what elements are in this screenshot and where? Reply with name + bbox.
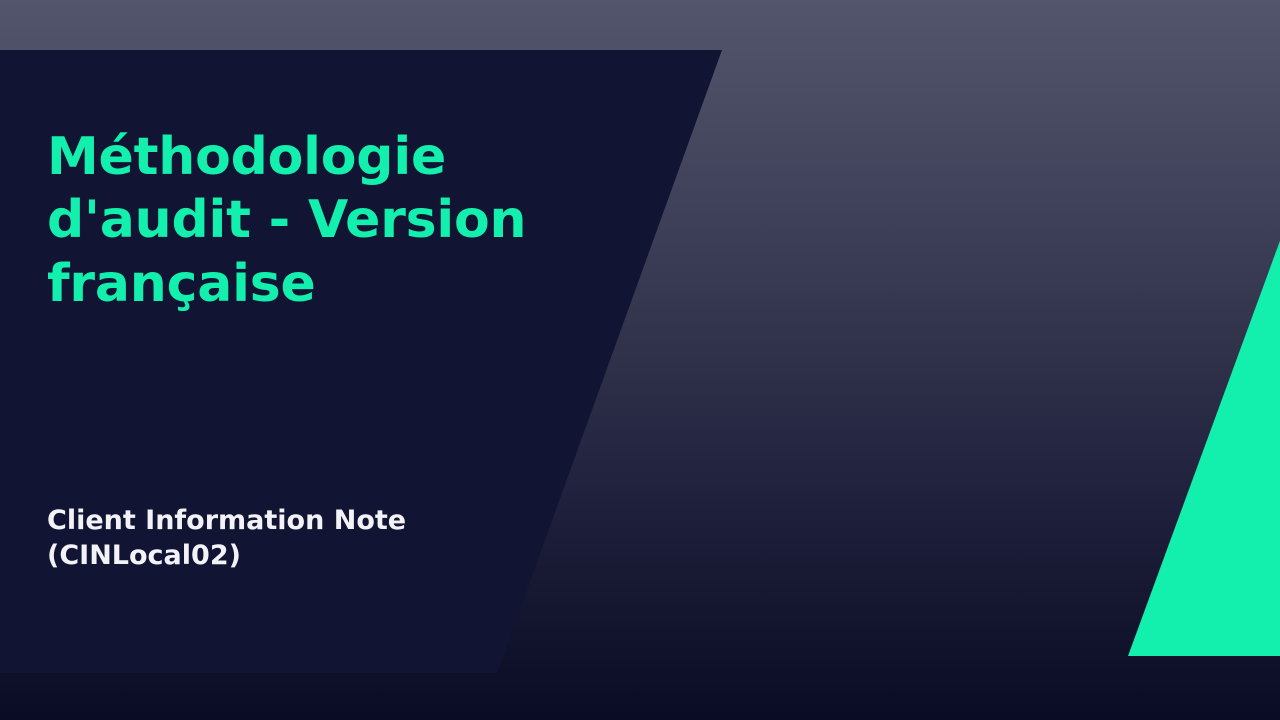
title-slide: Méthodologie d'audit - Version française… xyxy=(0,0,1280,720)
slide-text-container: Méthodologie d'audit - Version française… xyxy=(0,0,722,720)
slide-subtitle: Client Information Note (CINLocal02) xyxy=(47,503,507,573)
slide-title: Méthodologie d'audit - Version française xyxy=(47,126,547,316)
